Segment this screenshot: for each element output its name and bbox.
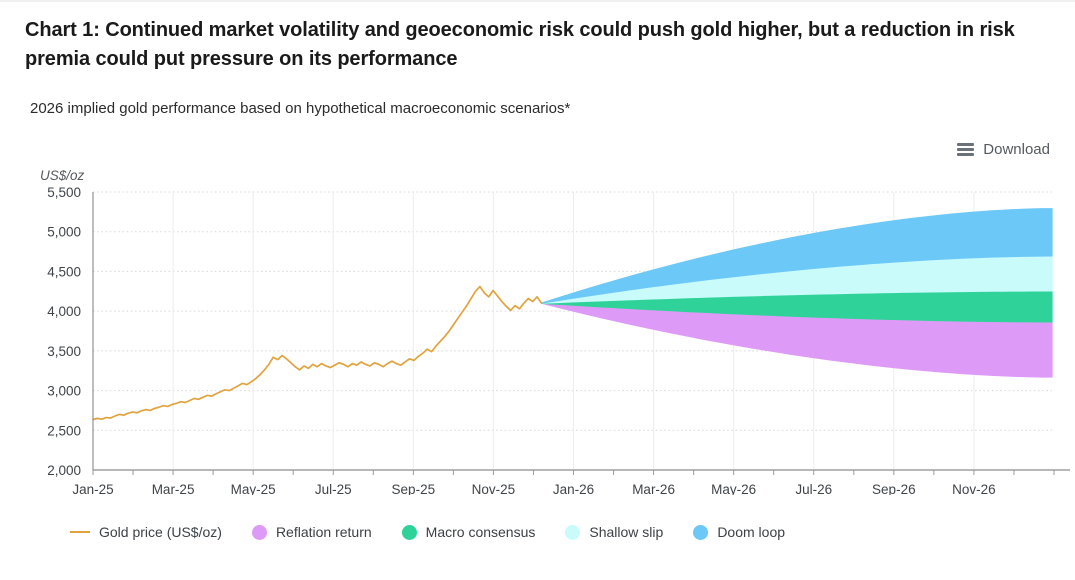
legend-dot-marker xyxy=(693,525,708,540)
download-button[interactable]: Download xyxy=(957,141,1050,158)
scenario-bands-group xyxy=(541,209,1052,377)
legend-label: Shallow slip xyxy=(589,524,663,540)
x-tick-label: May-26 xyxy=(711,482,756,495)
chart-plot-area: 5,5005,0004,5004,0003,5003,0002,5002,000… xyxy=(0,165,1075,495)
legend-label: Gold price (US$/oz) xyxy=(99,524,222,540)
legend-item-macro-consensus[interactable]: Macro consensus xyxy=(402,524,536,540)
hamburger-menu-icon xyxy=(957,143,974,156)
y-tick-label: 5,500 xyxy=(47,185,81,200)
legend-item-gold-price-us-oz[interactable]: Gold price (US$/oz) xyxy=(70,524,222,540)
legend-item-doom-loop[interactable]: Doom loop xyxy=(693,524,785,540)
gold-price-line-group xyxy=(93,287,541,420)
legend-line-marker xyxy=(70,531,90,533)
legend-label: Macro consensus xyxy=(426,524,536,540)
chart-legend: Gold price (US$/oz)Reflation returnMacro… xyxy=(70,524,815,540)
y-tick-labels-group: 5,5005,0004,5004,0003,5003,0002,5002,000 xyxy=(47,185,81,478)
x-tick-label: Mar-25 xyxy=(152,482,195,495)
legend-dot-marker xyxy=(565,525,580,540)
legend-item-shallow-slip[interactable]: Shallow slip xyxy=(565,524,663,540)
y-tick-label: 4,500 xyxy=(47,264,81,279)
x-tick-label: Sep-25 xyxy=(392,482,436,495)
chart-svg: 5,5005,0004,5004,0003,5003,0002,5002,000… xyxy=(0,165,1075,495)
legend-label: Reflation return xyxy=(276,524,372,540)
y-tick-label: 3,500 xyxy=(47,344,81,359)
y-tick-label: 2,000 xyxy=(47,463,81,478)
x-tick-label: Mar-26 xyxy=(632,482,675,495)
y-tick-label: 5,000 xyxy=(47,225,81,240)
gold-price-line xyxy=(93,287,541,420)
x-tick-label: Jul-26 xyxy=(795,482,832,495)
legend-dot-marker xyxy=(252,525,267,540)
x-tick-label: May-25 xyxy=(231,482,276,495)
x-tick-label: Jul-25 xyxy=(315,482,352,495)
x-tick-label: Jan-25 xyxy=(72,482,113,495)
x-tick-label: Nov-25 xyxy=(472,482,516,495)
x-tick-label: Jan-26 xyxy=(553,482,594,495)
download-button-label: Download xyxy=(983,141,1050,158)
page-title: Chart 1: Continued market volatility and… xyxy=(25,16,1035,74)
legend-item-reflation-return[interactable]: Reflation return xyxy=(252,524,372,540)
x-tick-labels-group: Jan-25Mar-25May-25Jul-25Sep-25Nov-25Jan-… xyxy=(72,482,995,495)
y-tick-label: 3,000 xyxy=(47,384,81,399)
page-subtitle: 2026 implied gold performance based on h… xyxy=(30,100,1040,117)
x-tick-label: Nov-26 xyxy=(952,482,996,495)
legend-label: Doom loop xyxy=(717,524,785,540)
y-tick-label: 2,500 xyxy=(47,423,81,438)
x-tick-label: Sep-26 xyxy=(872,482,916,495)
y-tick-label: 4,000 xyxy=(47,304,81,319)
top-divider xyxy=(0,0,1075,2)
legend-dot-marker xyxy=(402,525,417,540)
